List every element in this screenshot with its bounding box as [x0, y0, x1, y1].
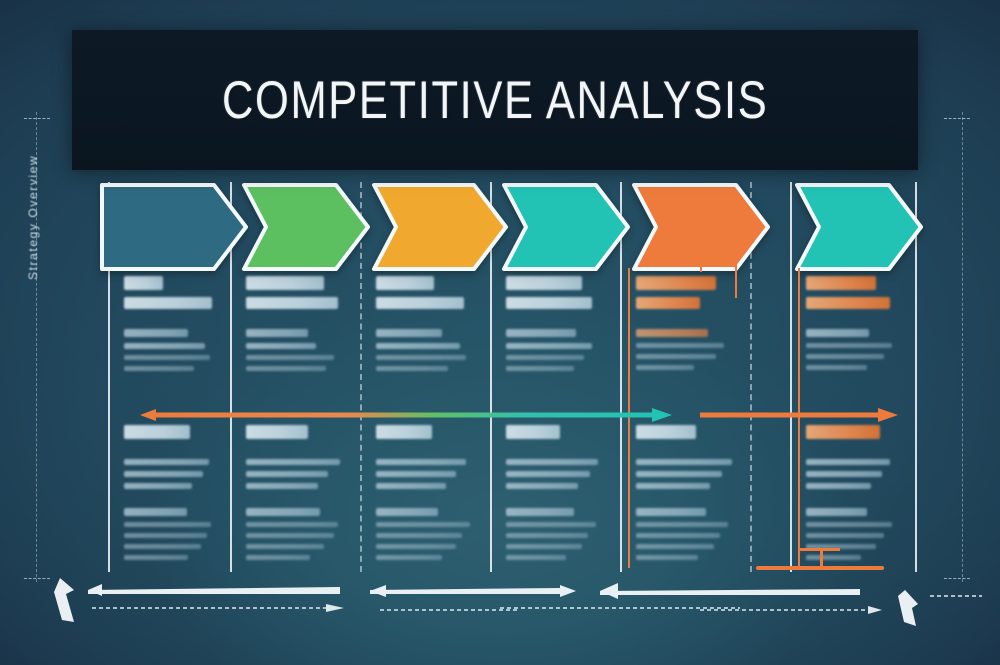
col-3-top-subheading: Growth Potential	[376, 297, 464, 309]
col-6-bottom-line-2: Source validation	[806, 471, 882, 477]
col-3-bottom-line-2: Scenario modelling	[376, 471, 456, 477]
col-5-top-sublabel: Advantages	[636, 329, 708, 337]
col-2-bottom-heading: Competitors	[246, 425, 308, 439]
col-1-bottom-line-2: Penetration figures	[124, 471, 203, 477]
bottom-measure-row	[0, 560, 1000, 630]
col-5-bottom-sub-2: Monitoring triggers	[636, 533, 720, 538]
mid-arrow-orange-head	[878, 408, 898, 422]
col-1-top-heading: Market	[124, 276, 163, 290]
bottom-left-bracket-icon	[54, 578, 74, 622]
col-4-top-line-2: Operational ratios	[506, 355, 584, 360]
corner-mark-top-left	[24, 118, 50, 119]
col-4-bottom-sub-2: Data sources	[506, 533, 588, 538]
col-3-bottom-heading: Outlook	[376, 425, 432, 439]
col-1-bottom-heading: Trendlines	[124, 425, 190, 439]
col-1-bottom-line-3: Sector movement	[124, 483, 192, 489]
orange-bracket-stub-cap	[700, 252, 737, 254]
col-5-top-line-2: Resource depth	[636, 354, 716, 359]
title-band: COMPETITIVE ANALYSIS	[72, 30, 918, 170]
col-3-bottom-line-3: Risk weighting	[376, 483, 446, 489]
mid-connector-svg	[0, 404, 1000, 426]
col-5-top-subheading: Internal Assets	[636, 297, 700, 309]
bottom-dash-1-head	[326, 604, 344, 612]
col-5-top-line-1: Capability mapping	[636, 343, 724, 348]
col-2-top-sublabel: Customer Segments	[246, 329, 308, 337]
col-3-bottom-sub-2: Resource planning	[376, 533, 462, 538]
bottom-arrow-span-2-right-head	[560, 585, 576, 597]
col-3-top-sublabel: White Space	[376, 329, 442, 337]
bottom-arrow-span-1[interactable]	[88, 587, 340, 594]
col-4-top-sublabel: Key Indicators	[506, 329, 576, 337]
col-2-top-line-3: Adoption curve data	[246, 366, 326, 371]
col-3-bottom-sub-3: Timeline estimates	[376, 544, 456, 549]
col-5-bottom-sublabel: Mitigations	[636, 508, 706, 516]
col-1-top-line-3: Positioning data	[124, 366, 194, 371]
col-4-bottom-sub-3: Quality controls	[506, 544, 582, 549]
col-5-bottom-heading: Unknowns	[636, 425, 696, 439]
col-2-top-heading: Propositions	[246, 276, 324, 290]
col-5-bottom-sub-1: Contingency planning	[636, 522, 728, 527]
col-2-top-subheading: Product Positioning	[246, 297, 338, 309]
mid-arrow-gradient-line	[152, 413, 652, 418]
col-2-bottom-sub-3: Brand strength index	[246, 544, 324, 549]
col-4-bottom-line-2: Cost per acquisition	[506, 471, 590, 477]
chevron-stage-2[interactable]	[222, 183, 370, 271]
col-3-top-heading: Opportunity	[376, 276, 434, 290]
bottom-dash-4-head	[868, 606, 882, 614]
col-6-bottom-sub-2: Data definitions	[806, 533, 884, 538]
bottom-right-bracket-icon	[898, 590, 918, 626]
col-5-top-heading: Key Strengths	[636, 276, 716, 290]
col-3-top-line-2: Emerging demand	[376, 355, 466, 360]
chevron-stage-4[interactable]	[482, 183, 630, 271]
col-2-bottom-line-3: Pricing comparisons	[246, 483, 318, 489]
col-2-bottom-line-1: Direct and indirect rivals	[246, 459, 340, 465]
col-2-bottom-sub-2: Service coverage	[246, 533, 334, 538]
col-6-top-line-1: Assessment summary	[806, 343, 892, 348]
bottom-arrow-span-1-left-head	[88, 584, 102, 596]
col-6-top-sublabel: Observations	[806, 329, 869, 337]
col-1-bottom-sub-2: Revenue scale metrics	[124, 533, 207, 538]
col-3-bottom-line-1: Forecast horizon	[376, 459, 466, 465]
col-2-bottom-sublabel: Differentiators	[246, 508, 320, 516]
bottom-arrow-span-3-left-head	[600, 583, 618, 599]
mid-arrow-teal-head	[652, 408, 672, 422]
col-1-top-line-2: Market share analysis	[124, 355, 210, 360]
corner-mark-top-right	[944, 118, 970, 119]
col-3-top-line-3: Expansion targets	[376, 366, 448, 371]
stage-chevron-row	[0, 183, 1000, 275]
orange-bracket-stub	[735, 252, 737, 298]
col-6-bottom-heading: Supporting	[806, 425, 880, 439]
col-2-bottom-line-2: Feature set overlap	[246, 471, 328, 477]
bottom-arrows-svg	[0, 560, 1000, 630]
infographic-poster: COMPETITIVE ANALYSIS Strategy Overview	[0, 0, 1000, 665]
col-4-top-subheading: Core Measures	[506, 297, 592, 309]
chevron-stage-5[interactable]	[612, 183, 770, 271]
col-5-top-line-3: Talent coverage	[636, 365, 694, 370]
col-5-bottom-sub-3: Response protocols	[636, 544, 714, 549]
col-1-top-subheading: Summary Strategy	[124, 297, 212, 309]
col-1-top-line-1: Competitor overview	[124, 343, 205, 349]
col-1-top-sublabel: Competitors	[124, 329, 188, 337]
page-title: COMPETITIVE ANALYSIS	[222, 70, 768, 131]
orange-bottom-cap	[800, 548, 840, 551]
col-4-bottom-sub-1: Reporting cadence	[506, 522, 596, 527]
col-5-bottom-line-2: Regulatory exposure	[636, 471, 722, 477]
col-4-top-line-1: Performance baselines	[506, 343, 592, 349]
col-3-bottom-sublabel: Roadmap	[376, 508, 438, 516]
col-4-bottom-line-1: Conversion tracking	[506, 459, 598, 465]
col-4-bottom-heading: Metrics	[506, 425, 560, 439]
bottom-arrow-span-2[interactable]	[370, 588, 560, 594]
col-4-bottom-line-3: Lifetime value	[506, 483, 578, 489]
orange-bracket-stub-drop	[700, 252, 702, 272]
bottom-arrow-span-2-left-head	[370, 585, 386, 597]
mid-connector-row	[0, 404, 1000, 426]
col-5-bottom-line-1: Uncertain variables	[636, 459, 732, 465]
col-6-top-line-3: Weighted outcomes	[806, 365, 867, 370]
col-1-bottom-sublabel: Benchmarks	[124, 508, 187, 516]
col-6-top-line-2: Scoring methodology	[806, 354, 884, 359]
col-6-top-subheading: Criteria Framework	[806, 297, 890, 309]
chevron-stage-6[interactable]	[775, 183, 923, 271]
mid-arrow-orange-line	[700, 413, 880, 418]
col-1-bottom-sub-3: Regional distribution	[124, 544, 201, 549]
col-3-top-line-1: Untapped segments	[376, 343, 460, 349]
col-4-top-heading: Benchmarks	[506, 276, 582, 290]
col-6-bottom-sublabel: Appendix	[806, 508, 867, 516]
col-4-top-line-3: Efficiency scoring	[506, 366, 574, 371]
col-2-top-line-1: Segment breakdown	[246, 343, 316, 349]
col-6-bottom-sub-1: Reference material	[806, 522, 892, 527]
col-6-top-heading: Evaluation	[806, 276, 876, 290]
col-4-bottom-sublabel: Dashboards	[506, 508, 574, 516]
col-2-top-line-2: Buyer profiles	[246, 355, 334, 360]
col-6-bottom-line-1: Evidence base	[806, 459, 890, 465]
col-6-bottom-line-3: Confidence level	[806, 483, 871, 489]
col-5-bottom-line-3: Market volatility	[636, 483, 710, 489]
col-3-bottom-sub-1: Phase milestones	[376, 522, 470, 527]
col-2-bottom-sub-1: Product advantages	[246, 522, 338, 527]
col-1-bottom-line-1: Demand drivers overview	[124, 459, 209, 465]
col-1-bottom-sub-1: Growth rate comparison	[124, 522, 211, 527]
